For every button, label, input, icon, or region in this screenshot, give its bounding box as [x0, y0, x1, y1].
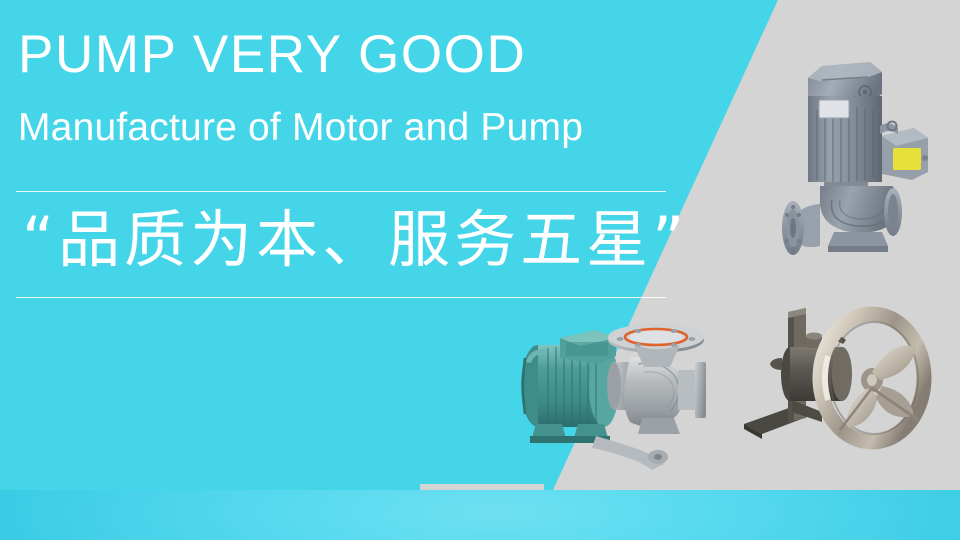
bottom-accent-bar: [0, 490, 960, 540]
divider-top: [16, 191, 666, 192]
product-image-submersible-mixer: [732, 292, 950, 460]
promo-banner: PUMP VERY GOOD Manufacture of Motor and …: [0, 0, 960, 540]
slogan-text: “品质为本、服务五星”: [22, 203, 688, 276]
page-title: PUMP VERY GOOD: [18, 26, 526, 83]
divider-bottom: [16, 297, 666, 298]
product-image-vertical-inline-pump: [762, 48, 952, 270]
product-image-horizontal-motor-pump: [492, 300, 724, 470]
page-subtitle: Manufacture of Motor and Pump: [18, 107, 583, 150]
